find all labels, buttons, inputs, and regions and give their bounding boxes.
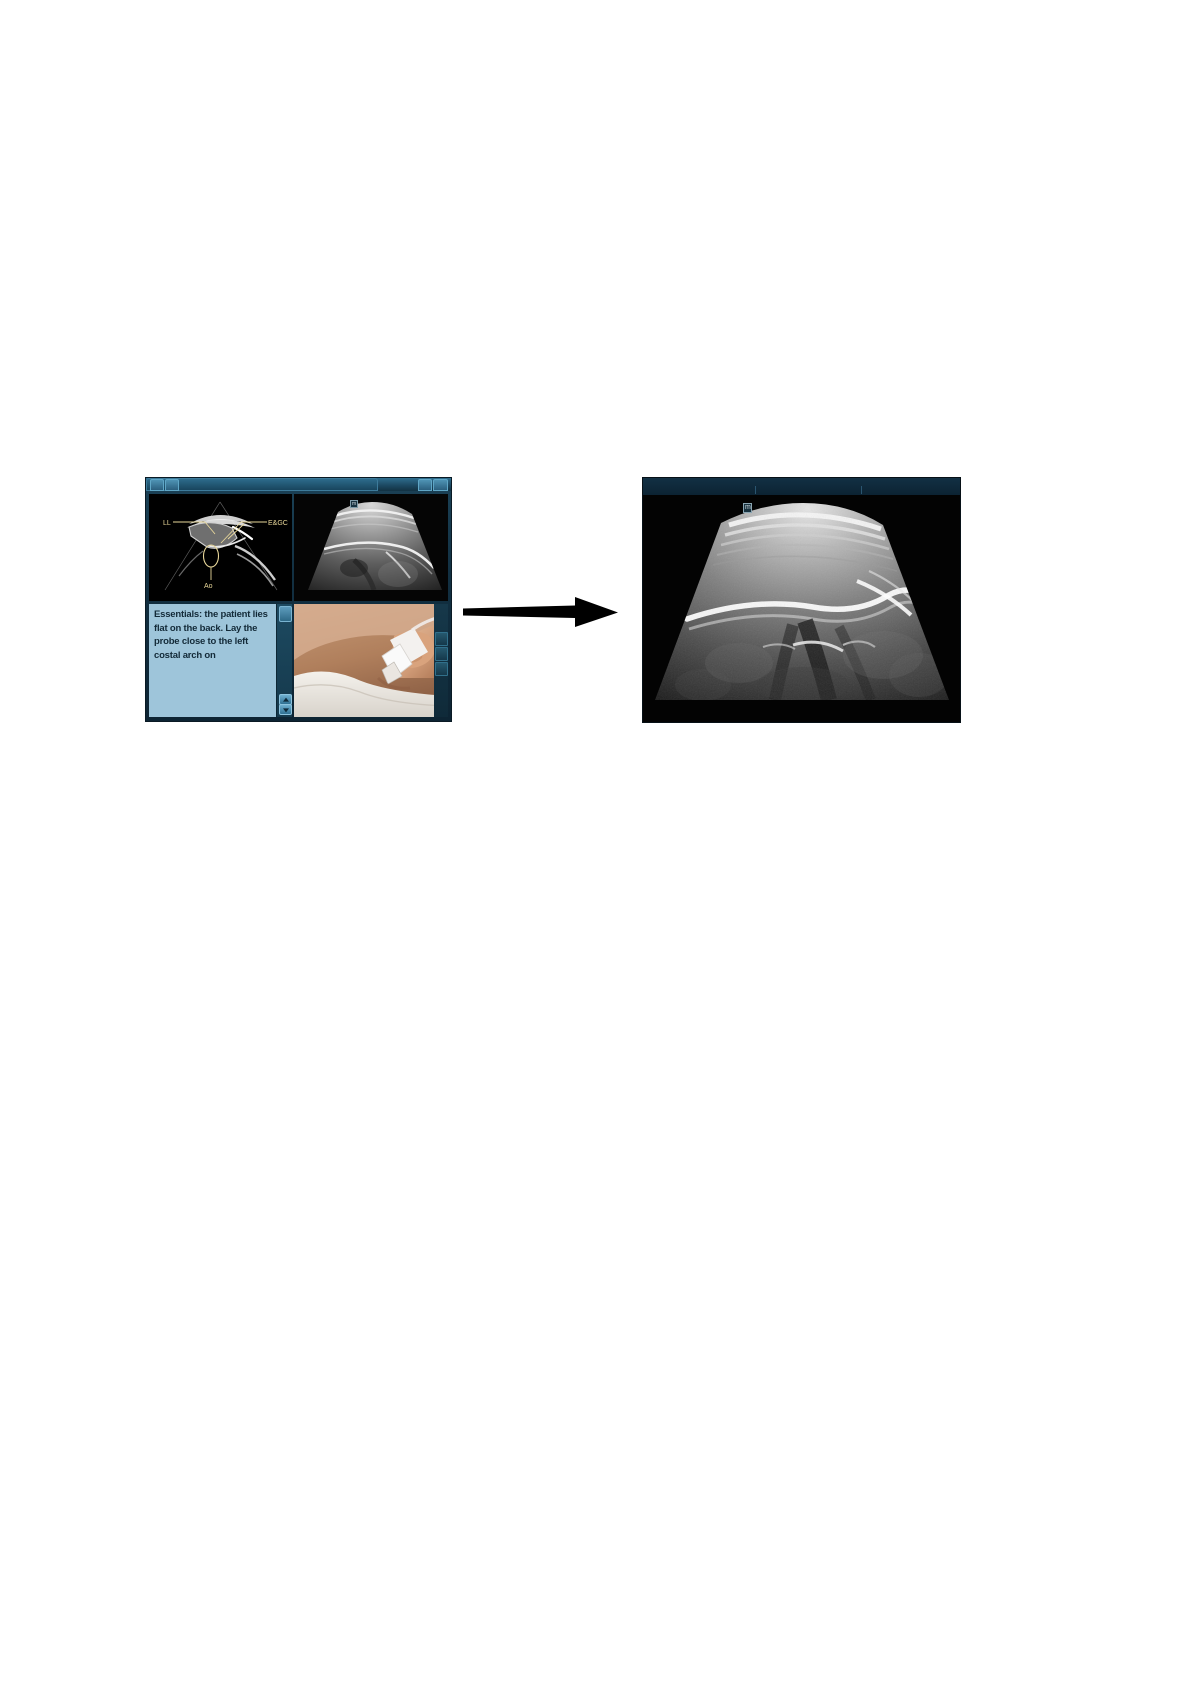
result-view-header (643, 478, 960, 496)
titlebar-button-3[interactable] (418, 479, 432, 491)
scrollbar-thumb[interactable] (279, 606, 292, 622)
ultrasound-bmode-thumbnail[interactable]: m (294, 494, 448, 601)
figure-canvas: LL E&GC Ao (0, 0, 1190, 1684)
ultrasound-result-image (643, 495, 960, 722)
titlebar-button-4[interactable] (433, 479, 448, 491)
ultrasound-bmode-thumbnail-image (294, 494, 448, 601)
instruction-text: Essentials: the patient lies flat on the… (154, 608, 274, 662)
photo-toolbar-button-3[interactable] (435, 662, 448, 676)
flow-arrow (463, 596, 618, 629)
console-body: LL E&GC Ao (146, 491, 451, 721)
flow-arrow-icon (463, 596, 618, 629)
anatomy-schematic-drawing: LL E&GC Ao (149, 494, 292, 601)
scroll-down-button[interactable] (279, 704, 292, 715)
ultrasound-training-console[interactable]: LL E&GC Ao (146, 478, 451, 721)
titlebar-button-1[interactable] (150, 479, 164, 491)
photo-toolbar-button-2[interactable] (435, 647, 448, 661)
probe-placement-photo[interactable] (294, 604, 448, 717)
orientation-marker-icon: m (350, 500, 358, 508)
orientation-marker-icon: m (743, 503, 752, 513)
anatomy-schematic[interactable]: LL E&GC Ao (149, 494, 292, 601)
schematic-label-ll: LL (163, 520, 171, 527)
instruction-text-area: Essentials: the patient lies flat on the… (149, 604, 277, 717)
console-titlebar (146, 478, 451, 491)
schematic-label-ao: Ao (204, 583, 213, 590)
ultrasound-result-view[interactable]: m (643, 478, 960, 722)
instruction-scrollbar[interactable] (276, 604, 292, 717)
instruction-panel[interactable]: Essentials: the patient lies flat on the… (149, 604, 292, 717)
probe-photo-drawing (294, 604, 448, 717)
ultrasound-result-drawing (643, 495, 960, 722)
schematic-label-egc: E&GC (268, 520, 288, 527)
probe-placement-photo-image (294, 604, 448, 717)
photo-toolbar-button-1[interactable] (435, 632, 448, 646)
photo-side-toolbar[interactable] (434, 604, 448, 717)
titlebar-tab-active[interactable] (146, 478, 378, 491)
titlebar-button-2[interactable] (165, 479, 179, 491)
